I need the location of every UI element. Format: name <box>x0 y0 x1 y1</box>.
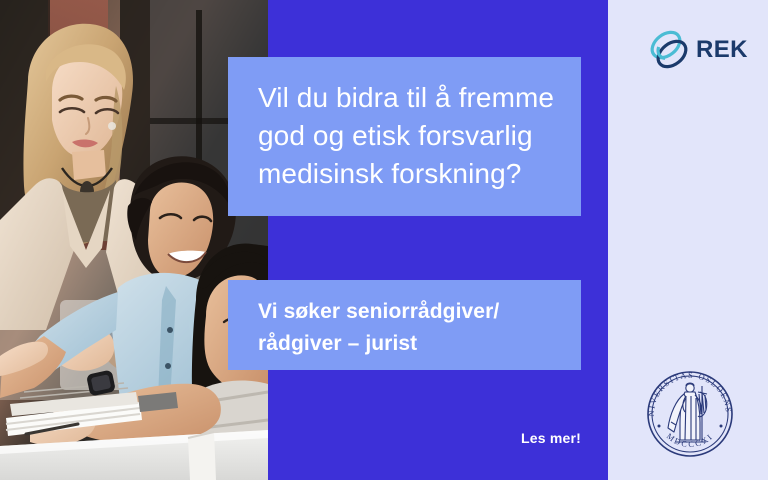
job-title-line-1: Vi søker seniorrådgiver/ <box>258 296 555 328</box>
read-more-link[interactable]: Les mer! <box>0 430 581 448</box>
headline-line-3: medisinsk forskning? <box>258 155 555 193</box>
uio-seal: UNIVERSITAS OSLOENSIS MDCCCXI <box>638 362 742 466</box>
recruitment-banner: Vil du bidra til å fremme god og etisk f… <box>0 0 768 480</box>
job-title-line-2: rådgiver – jurist <box>258 328 555 360</box>
rek-wordmark: REK <box>696 38 748 62</box>
rek-logo[interactable]: REK <box>648 26 748 74</box>
interlocking-rings-icon <box>648 28 692 72</box>
headline-line-2: god og etisk forsvarlig <box>258 117 555 155</box>
headline-line-1: Vil du bidra til å fremme <box>258 79 555 117</box>
job-title-card: Vi søker seniorrådgiver/ rådgiver – juri… <box>228 280 581 370</box>
read-more-label: Les mer! <box>521 430 581 446</box>
headline-card: Vil du bidra til å fremme god og etisk f… <box>228 57 581 216</box>
